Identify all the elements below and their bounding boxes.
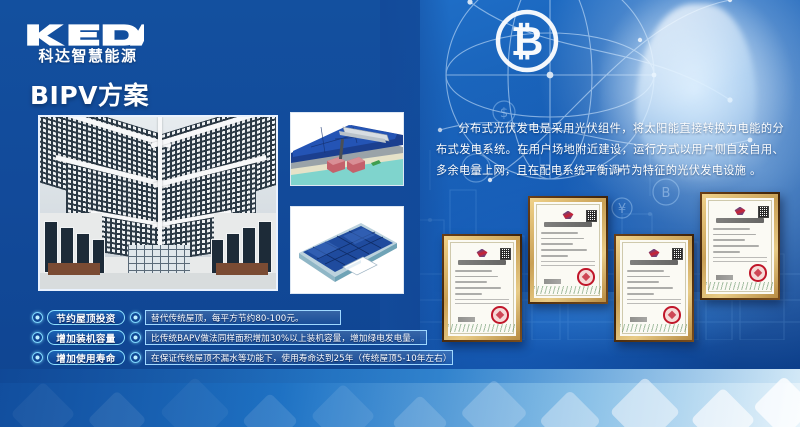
certificate-title: [458, 260, 507, 265]
benefit-row-1: 节约屋顶投资 替代传统屋顶，每平方节约80-100元。: [32, 309, 432, 326]
bullet-dot-icon: [32, 312, 43, 323]
certificate-qr-icon: [672, 248, 683, 261]
keda-wordmark-icon: [26, 22, 144, 48]
bullet-dot-icon: [130, 312, 141, 323]
benefits-list: 节约屋顶投资 替代传统屋顶，每平方节约80-100元。 增加装机容量 比传统BA…: [32, 309, 432, 369]
poster-canvas: @$ B¥ ₿ 科达智慧能源 BIPV方案: [0, 0, 800, 427]
certificate-signature: [458, 317, 476, 322]
brand-logo-cn: 科达智慧能源: [26, 49, 150, 64]
certificate-4[interactable]: [700, 192, 780, 300]
certificate-qr-icon: [586, 210, 597, 223]
certificate-guilloche: [706, 282, 774, 291]
brand-logo[interactable]: 科达智慧能源: [26, 22, 150, 64]
atrium-skylight-photo: [38, 115, 278, 291]
certificate-1[interactable]: [442, 234, 522, 342]
svg-text:₿: ₿: [511, 19, 544, 65]
bullet-dot-icon: [130, 352, 141, 363]
benefit-label-2: 增加装机容量: [47, 330, 125, 345]
pv-array-layout-diagram: [290, 206, 404, 294]
benefit-label-1: 节约屋顶投资: [47, 310, 125, 325]
intro-paragraph: 分布式光伏发电是采用光伏组件，将太阳能直接转换为电能的分布式发电系统。在用户场地…: [436, 118, 784, 181]
bullet-dot-icon: [130, 332, 141, 343]
benefit-label-3: 增加使用寿命: [47, 350, 125, 365]
certificate-seal: [663, 306, 681, 324]
benefit-row-3: 增加使用寿命 在保证传统屋顶不漏水等功能下，使用寿命达到25年（传统屋顶5-10…: [32, 349, 432, 366]
certificate-signature: [630, 317, 648, 322]
certificate-signature: [716, 275, 734, 280]
benefit-desc-3: 在保证传统屋顶不漏水等功能下，使用寿命达到25年（传统屋顶5-10年左右）: [145, 350, 453, 365]
certificate-qr-icon: [500, 248, 511, 261]
certificate-title: [544, 222, 593, 227]
certificate-seal: [491, 306, 509, 324]
benefit-desc-2: 比传统BAPV做法同样面积增加30%以上装机容量，增加绿电发电量。: [145, 330, 427, 345]
certificate-qr-icon: [758, 206, 769, 219]
benefit-row-2: 增加装机容量 比传统BAPV做法同样面积增加30%以上装机容量，增加绿电发电量。: [32, 329, 432, 346]
pv-mounting-detail-diagram: [290, 112, 404, 186]
certificate-title: [716, 218, 765, 223]
benefit-desc-1: 替代传统屋顶，每平方节约80-100元。: [145, 310, 341, 325]
certificate-guilloche: [534, 286, 602, 295]
certificate-3[interactable]: [614, 234, 694, 342]
certificate-guilloche: [620, 324, 688, 333]
certificate-signature: [544, 279, 562, 284]
bitcoin-icon: ₿: [494, 8, 560, 74]
bullet-dot-icon: [32, 332, 43, 343]
page-title: BIPV方案: [30, 76, 149, 112]
certificate-seal: [749, 264, 767, 282]
certificate-2[interactable]: [528, 196, 608, 304]
certificate-seal: [577, 268, 595, 286]
certificate-title: [630, 260, 679, 265]
bullet-dot-icon: [32, 352, 43, 363]
certificate-guilloche: [448, 324, 516, 333]
footer-decoration: [0, 369, 800, 427]
